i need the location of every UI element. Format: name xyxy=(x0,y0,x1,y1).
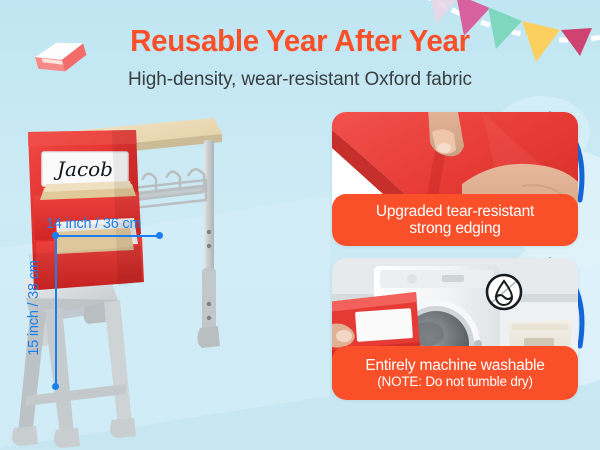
hero-scene: Jacob xyxy=(0,104,330,450)
caption-line-2: strong edging xyxy=(409,220,500,237)
dimension-endpoint-dot xyxy=(52,383,59,390)
page-subtitle: High-density, wear-resistant Oxford fabr… xyxy=(0,68,600,92)
feature-panel-machine-washable[interactable]: Entirely machine washable (NOTE: Do not … xyxy=(332,258,578,400)
caption-line-1: Entirely machine washable xyxy=(365,357,544,374)
dimension-endpoint-dot xyxy=(52,232,59,239)
name-tag-text: Jacob xyxy=(53,157,113,181)
dimension-width-line xyxy=(52,235,160,237)
dimension-height-line xyxy=(55,235,57,387)
dimension-height-label: 15 inch / 38 cm xyxy=(26,248,42,368)
caption-line-2: (NOTE: Do not tumble dry) xyxy=(377,374,533,390)
hero-product-photo: Jacob 14 inch / 36 cm 15 inch / 38 cm xyxy=(0,104,330,450)
caption-line-1: Upgraded tear-resistant xyxy=(376,203,534,220)
product-infographic: Reusable Year After Year High-density, w… xyxy=(0,0,600,450)
dimension-width-label: 14 inch / 36 cm xyxy=(46,216,141,232)
page-title: Reusable Year After Year xyxy=(15,24,585,58)
panel-caption-machine-washable: Entirely machine washable (NOTE: Do not … xyxy=(332,346,578,400)
feature-panel-tear-resistant[interactable]: Upgraded tear-resistant strong edging xyxy=(332,112,578,246)
dimension-endpoint-dot xyxy=(156,232,163,239)
panel-caption-tear-resistant: Upgraded tear-resistant strong edging xyxy=(332,194,578,246)
